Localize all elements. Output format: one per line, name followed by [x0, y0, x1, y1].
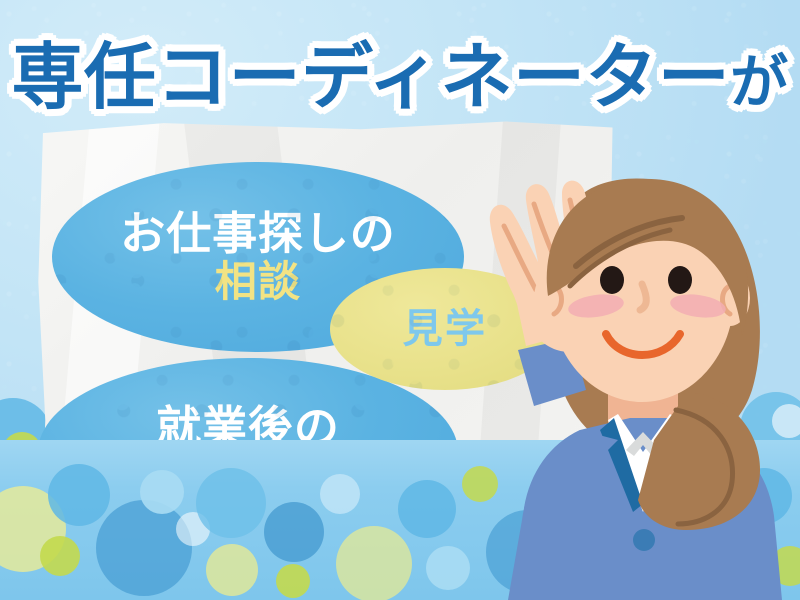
suit-button [633, 529, 655, 551]
band-bubble [48, 464, 110, 526]
band-bubble [264, 502, 324, 562]
smiling-female-coordinator [430, 100, 800, 600]
callout-line: お仕事探しの [120, 211, 395, 257]
band-bubble [140, 470, 184, 514]
eye-left [600, 266, 624, 294]
band-bubble [196, 468, 266, 538]
eye-right [668, 266, 692, 294]
band-bubble [276, 564, 310, 598]
band-bubble [96, 500, 192, 596]
band-bubble [206, 544, 258, 596]
band-bubble [320, 474, 360, 514]
page-title-main: 専任コーディネーター [12, 38, 731, 118]
page-title: 専任コーディネーターが [0, 18, 800, 123]
band-bubble [40, 536, 80, 576]
page-title-particle: が [730, 50, 788, 115]
band-bubble [336, 526, 412, 600]
promo-banner: お仕事探しの 相談 就業後の サポート 見学 専任コーディネーターが [0, 0, 800, 600]
callout-line: 相談 [215, 261, 302, 304]
